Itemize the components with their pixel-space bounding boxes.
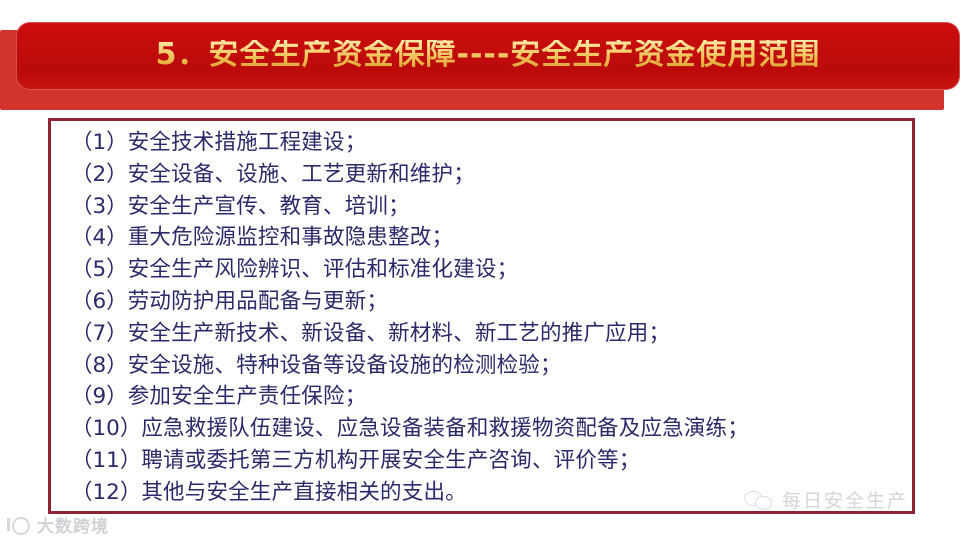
list-item-number: （5） <box>71 254 128 286</box>
watermark-right-label: 每日安全生产 <box>782 486 908 513</box>
list-item-number: （2） <box>71 159 128 191</box>
list-item: （5） 安全生产风险辨识、评估和标准化建设； <box>71 254 904 286</box>
list-item-number: （12） <box>71 477 141 509</box>
list-item-text: 安全生产风险辨识、评估和标准化建设； <box>128 254 519 286</box>
list-item: （4） 重大危险源监控和事故隐患整改； <box>71 222 904 254</box>
watermark-left: 大数跨境 <box>6 512 109 537</box>
list-item-number: （9） <box>71 381 128 413</box>
list-item-text: 重大危险源监控和事故隐患整改； <box>128 222 454 254</box>
list-item-text: 安全技术措施工程建设； <box>128 127 367 159</box>
list-item-number: （1） <box>71 127 128 159</box>
list-item-text: 安全设施、特种设备等设备设施的检测检验； <box>128 350 562 382</box>
list-item-text: 应急救援队伍建设、应急设备装备和救援物资配备及应急演练； <box>141 413 749 445</box>
page-title: 5．安全生产资金保障----安全生产资金使用范围 <box>156 40 821 72</box>
header-banner-area: 5．安全生产资金保障----安全生产资金使用范围 <box>0 22 960 110</box>
list-item-number: （6） <box>71 286 128 318</box>
watermark-left-label: 大数跨境 <box>37 512 109 537</box>
list-item-number: （8） <box>71 350 128 382</box>
list-item: （6） 劳动防护用品配备与更新； <box>71 286 904 318</box>
content-box: （1） 安全技术措施工程建设； （2） 安全设备、设施、工艺更新和维护； （3）… <box>48 118 915 514</box>
list-item-text: 劳动防护用品配备与更新； <box>128 286 388 318</box>
list-item: （2） 安全设备、设施、工艺更新和维护； <box>71 159 904 191</box>
list-item: （1） 安全技术措施工程建设； <box>71 127 904 159</box>
k-logo-icon <box>6 515 32 535</box>
list-item-text: 安全生产宣传、教育、培训； <box>128 191 410 223</box>
watermark-right: 每日安全生产 <box>744 486 908 513</box>
list-item-number: （7） <box>71 318 128 350</box>
wechat-icon <box>744 489 774 511</box>
list-item: （3） 安全生产宣传、教育、培训； <box>71 191 904 223</box>
list-item: （10） 应急救援队伍建设、应急设备装备和救援物资配备及应急演练； <box>71 413 904 445</box>
list-item: （9） 参加安全生产责任保险； <box>71 381 904 413</box>
list-item-text: 聘请或委托第三方机构开展安全生产咨询、评价等； <box>141 445 640 477</box>
list-item: （8） 安全设施、特种设备等设备设施的检测检验； <box>71 350 904 382</box>
header-banner: 5．安全生产资金保障----安全生产资金使用范围 <box>16 22 960 90</box>
list-item: （11） 聘请或委托第三方机构开展安全生产咨询、评价等； <box>71 445 904 477</box>
list-item-text: 安全设备、设施、工艺更新和维护； <box>128 159 475 191</box>
list-item-text: 其他与安全生产直接相关的支出。 <box>141 477 467 509</box>
list-item-number: （3） <box>71 191 128 223</box>
list-item: （7） 安全生产新技术、新设备、新材料、新工艺的推广应用； <box>71 318 904 350</box>
list-item-number: （4） <box>71 222 128 254</box>
usage-scope-list: （1） 安全技术措施工程建设； （2） 安全设备、设施、工艺更新和维护； （3）… <box>71 127 904 509</box>
list-item-number: （11） <box>71 445 141 477</box>
slide-canvas: 5．安全生产资金保障----安全生产资金使用范围 （1） 安全技术措施工程建设；… <box>0 0 960 540</box>
list-item-text: 安全生产新技术、新设备、新材料、新工艺的推广应用； <box>128 318 671 350</box>
list-item-text: 参加安全生产责任保险； <box>128 381 367 413</box>
list-item-number: （10） <box>71 413 141 445</box>
